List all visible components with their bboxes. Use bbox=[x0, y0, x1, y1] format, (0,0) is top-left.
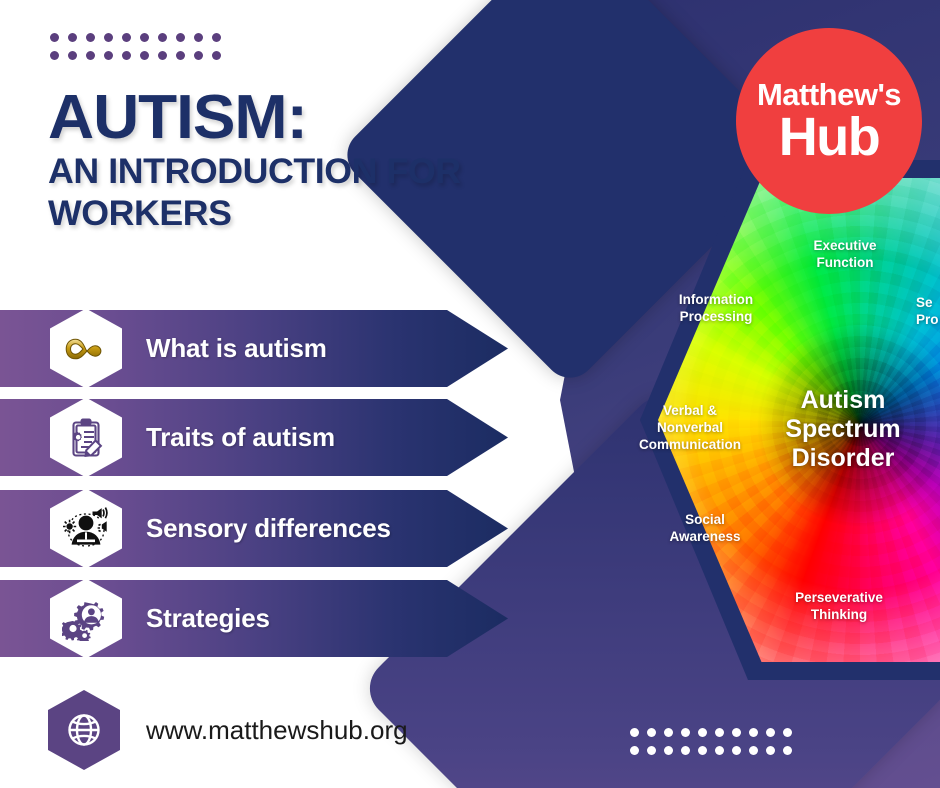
menu-item-label: Strategies bbox=[146, 603, 270, 634]
wheel-center-line3: Disorder bbox=[748, 444, 938, 473]
menu-item-label: What is autism bbox=[146, 333, 327, 364]
wheel-label-sensory-processing: Se Pro bbox=[916, 295, 940, 329]
page-title: AUTISM: AN INTRODUCTION FOR WORKERS bbox=[48, 88, 468, 232]
menu-item-sensory-differences[interactable]: Sensory differences bbox=[0, 490, 508, 567]
brand-logo: Matthew's Hub bbox=[736, 28, 922, 214]
wheel-label-executive-function: Executive Function bbox=[790, 238, 900, 272]
clipboard-checklist-icon bbox=[50, 398, 122, 478]
menu-item-label: Traits of autism bbox=[146, 422, 335, 453]
page-title-main: AUTISM: bbox=[48, 88, 481, 149]
menu-item-strategies[interactable]: Strategies bbox=[0, 580, 508, 657]
wheel-label-verbal-nonverbal-communication: Verbal & Nonverbal Communication bbox=[620, 403, 760, 454]
brand-logo-line2: Hub bbox=[779, 112, 879, 163]
menu-item-what-is-autism[interactable]: What is autism bbox=[0, 310, 508, 387]
sensory-person-icon bbox=[50, 489, 122, 569]
page-title-sub-line2: WORKERS bbox=[48, 195, 476, 233]
wheel-label-information-processing: Information Processing bbox=[655, 292, 777, 326]
website-url-text: www.matthewshub.org bbox=[146, 715, 408, 746]
menu-item-label: Sensory differences bbox=[146, 513, 391, 544]
poster-canvas: Autism Spectrum Disorder Executive Funct… bbox=[0, 0, 940, 788]
dot-grid-icon-top bbox=[50, 33, 230, 69]
brand-logo-line1: Matthew's bbox=[757, 79, 901, 110]
wheel-label-perseverative-thinking: Perseverative Thinking bbox=[773, 590, 905, 624]
wheel-center-line2: Spectrum bbox=[748, 415, 938, 444]
wheel-label-social-awareness: Social Awareness bbox=[652, 512, 758, 546]
gears-person-icon bbox=[50, 579, 122, 659]
dot-grid-icon-bottom bbox=[630, 728, 800, 764]
website-link[interactable]: www.matthewshub.org bbox=[48, 690, 408, 770]
globe-icon bbox=[48, 690, 120, 770]
wheel-center-title: Autism Spectrum Disorder bbox=[748, 386, 938, 472]
wheel-center-line1: Autism bbox=[748, 386, 938, 415]
infinity-icon bbox=[50, 309, 122, 389]
menu-item-traits-of-autism[interactable]: Traits of autism bbox=[0, 399, 508, 476]
page-title-sub-line1: AN INTRODUCTION FOR bbox=[48, 153, 476, 191]
